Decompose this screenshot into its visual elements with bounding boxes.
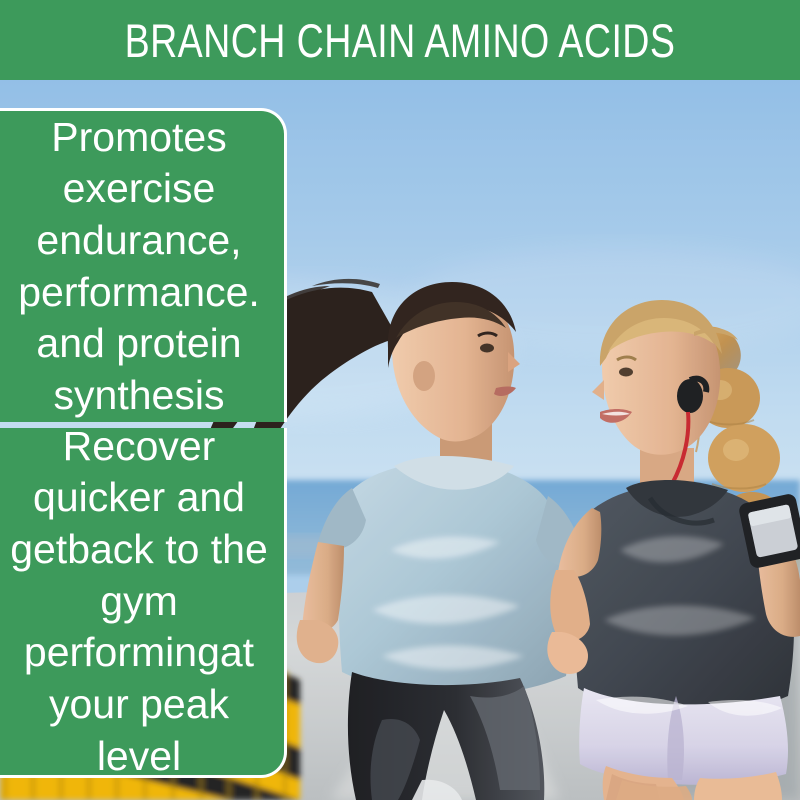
benefit-panel-2: Recover quicker and getback to the gym p… (0, 428, 287, 778)
benefit-panel-1: Promotes exercise endurance, performance… (0, 108, 287, 422)
page-title: BRANCH CHAIN AMINO ACIDS (80, 0, 720, 80)
benefit-panel-1-text: Promotes exercise endurance, performance… (0, 112, 284, 422)
benefit-panel-2-text: Recover quicker and getback to the gym p… (0, 421, 284, 783)
poster-root: BRANCH CHAIN AMINO ACIDS Promotes exerci… (0, 0, 800, 800)
